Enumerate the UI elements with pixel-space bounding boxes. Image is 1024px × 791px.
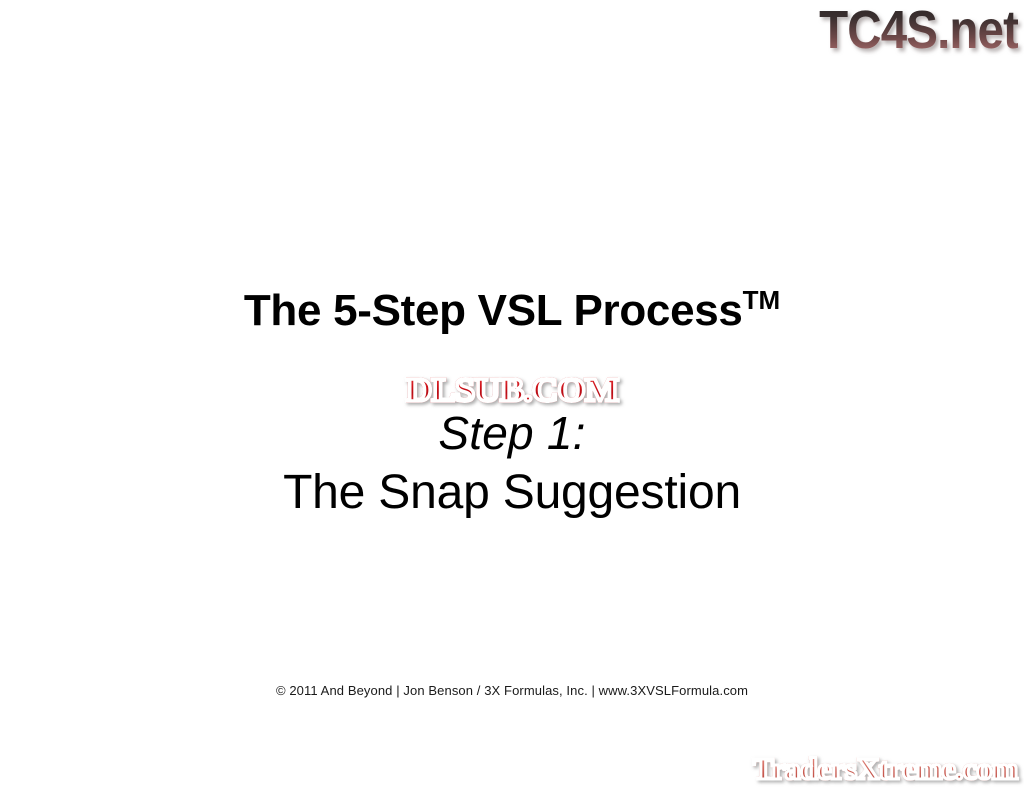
watermark-tc4s-net: TC4S.net [819,2,1018,58]
watermark-tradersxtreme-com: TradersXtreme.com [753,751,1018,787]
copyright-notice: © 2011 And Beyond | Jon Benson / 3X Form… [0,683,1024,699]
watermark-dlsub-com: DLSUB.COM [0,374,1024,408]
watermark-dlsub-com-text: DLSUB.COM [406,374,618,408]
slide-subtitle: Step 1: The Snap Suggestion [0,406,1024,522]
slide-title-text: The 5-Step VSL Process [244,286,743,335]
subtitle-step-label: Step 1: [0,406,1024,460]
subtitle-main-label: The Snap Suggestion [0,464,1024,522]
presentation-slide: TC4S.net The 5-Step VSL ProcessTM Step 1… [0,0,1024,791]
trademark-symbol: TM [743,285,781,315]
slide-title: The 5-Step VSL ProcessTM [0,276,1024,335]
